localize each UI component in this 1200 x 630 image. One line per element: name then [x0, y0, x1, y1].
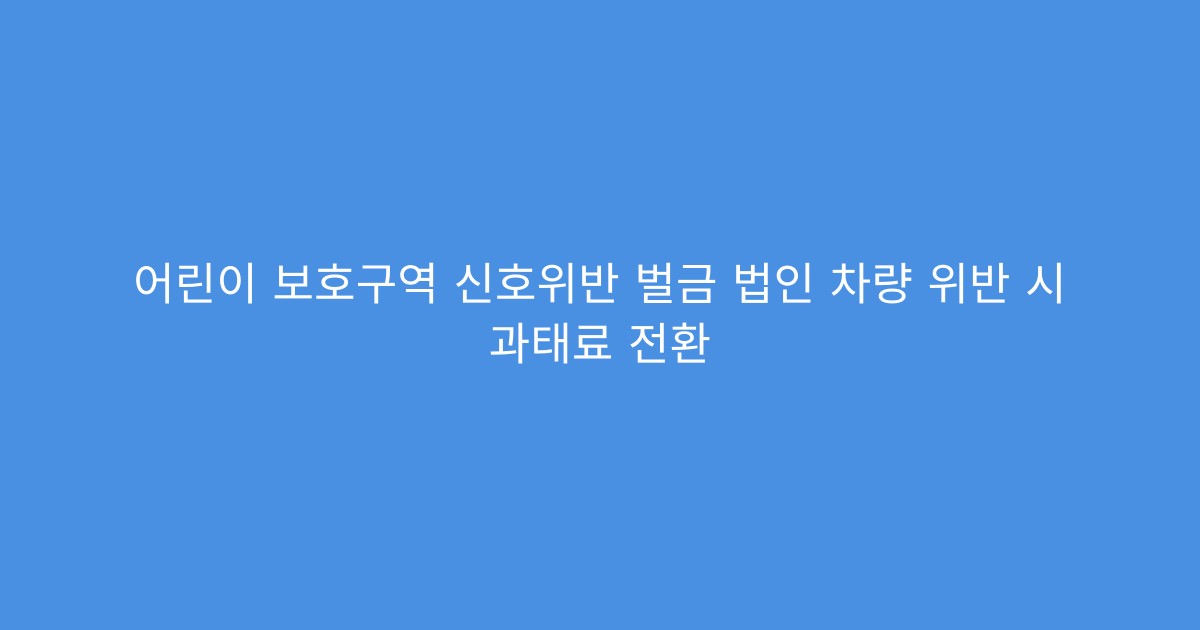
- og-card: 어린이 보호구역 신호위반 벌금 법인 차량 위반 시 과태료 전환: [0, 0, 1200, 630]
- page-title: 어린이 보호구역 신호위반 벌금 법인 차량 위반 시 과태료 전환: [80, 255, 1120, 375]
- headline-block: 어린이 보호구역 신호위반 벌금 법인 차량 위반 시 과태료 전환: [70, 255, 1130, 375]
